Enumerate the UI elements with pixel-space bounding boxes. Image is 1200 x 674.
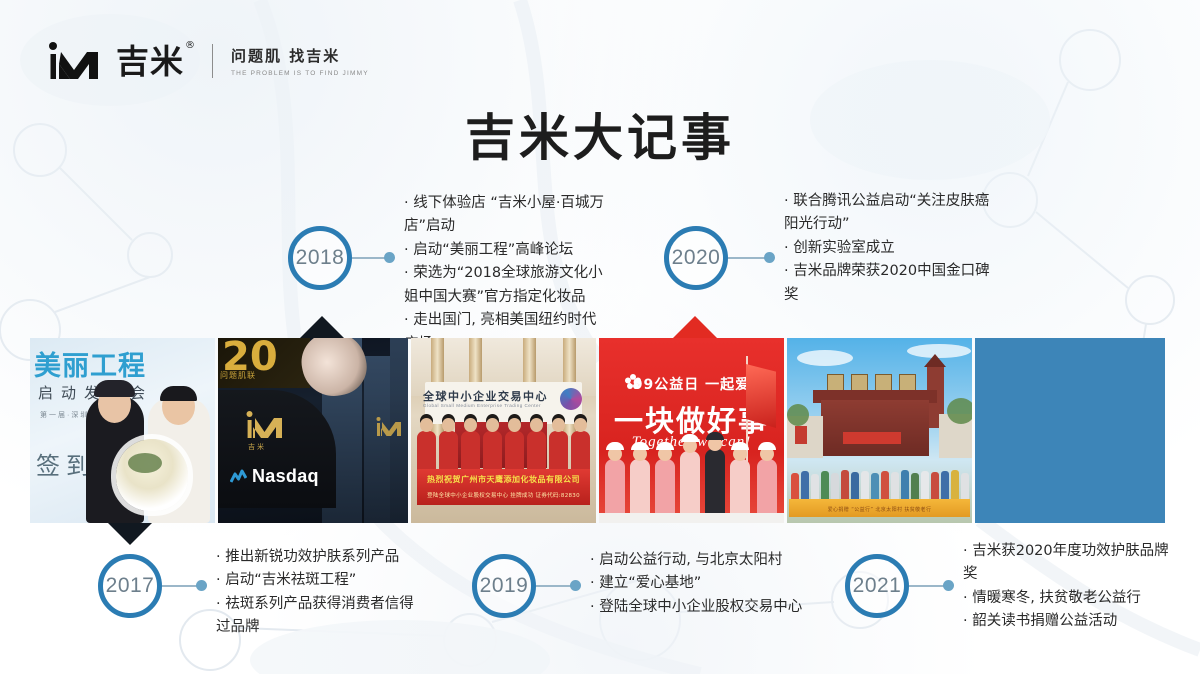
tagline-chinese: 问题肌 找吉米 bbox=[231, 45, 369, 66]
building bbox=[364, 356, 390, 523]
nasdaq-mark-icon bbox=[230, 469, 247, 484]
bullet-item: 线下体验店 “吉米小屋·百城万店”启动 bbox=[404, 192, 610, 239]
gate-red-banner bbox=[843, 432, 901, 444]
year-circle-2019[interactable]: 2019 bbox=[472, 554, 536, 618]
event-bullets-2020: 联合腾讯公益启动“关注皮肤癌阳光行动” 创新实验室成立 吉米品牌荣获2020中国… bbox=[784, 190, 994, 307]
pointer-down-2017 bbox=[108, 523, 152, 545]
person bbox=[851, 472, 859, 501]
jimmy-m-logo-icon bbox=[376, 416, 402, 437]
person-hair bbox=[160, 386, 197, 401]
person bbox=[871, 473, 879, 501]
photo-trading-center-ceremony[interactable]: 全球中小企业交易中心 Global Small Medium Enterpris… bbox=[411, 338, 596, 523]
connector-dot-2020 bbox=[764, 252, 775, 263]
connector-dot-2019 bbox=[570, 580, 581, 591]
year-label-2017: 2017 bbox=[106, 574, 155, 598]
photo-content: 美丽工程 启动发布会 第一届·深圳 2018年 签到 bbox=[30, 338, 215, 523]
photo-beauty-project-launch[interactable]: 美丽工程 启动发布会 第一届·深圳 2018年 签到 bbox=[30, 338, 215, 523]
page-title: 吉米大记事 bbox=[0, 98, 1200, 170]
cloud bbox=[797, 350, 853, 366]
year-label-2020: 2020 bbox=[672, 246, 721, 270]
charity-banner-text: 爱心捐赠 “公益行” 北京太阳村 扶贫敬老行 bbox=[791, 506, 968, 513]
bullet-item: 联合腾讯公益启动“关注皮肤癌阳光行动” bbox=[784, 190, 994, 237]
pointer-up-2020 bbox=[673, 316, 717, 338]
backdrop-title: 美丽工程 bbox=[34, 344, 146, 383]
photo-99-charity-day[interactable]: 99公益日 一起爱 一块做好事 Together we can! bbox=[599, 338, 784, 523]
bullet-item: 启动“吉米祛斑工程” bbox=[216, 569, 428, 592]
connector-dot-2018 bbox=[384, 252, 395, 263]
person bbox=[791, 473, 799, 501]
volunteer bbox=[705, 449, 725, 523]
person bbox=[951, 470, 959, 501]
tagline-group: 问题肌 找吉米 THE PROBLEM IS TO FIND JIMMY bbox=[231, 45, 369, 77]
brand-logo: 吉米 ® 问题肌 找吉米 THE PROBLEM IS TO FIND JIMM… bbox=[48, 40, 369, 82]
bullet-item: 情暖寒冬, 扶贫敬老公益行 bbox=[963, 587, 1169, 610]
person bbox=[841, 470, 849, 501]
connector-2017 bbox=[162, 585, 200, 587]
tagline-english: THE PROBLEM IS TO FIND JIMMY bbox=[231, 70, 369, 77]
person bbox=[811, 474, 819, 501]
photo-content: 全球中小企业交易中心 Global Small Medium Enterpris… bbox=[411, 338, 596, 523]
event-bullets-2017: 推出新锐功效护肤系列产品 启动“吉米祛斑工程” 祛斑系列产品获得消费者信得过品牌 bbox=[216, 546, 428, 640]
person bbox=[801, 471, 809, 501]
bullet-item: 推出新锐功效护肤系列产品 bbox=[216, 546, 428, 569]
bullet-item: 创新实验室成立 bbox=[784, 237, 994, 260]
venue-sign-english: Global Small Medium Enterprise Trading C… bbox=[423, 403, 541, 408]
village-gate bbox=[821, 400, 929, 456]
banner-line-2: 登陆全球中小企业股权交易中心 挂牌成功 证券代码:82830 bbox=[421, 491, 586, 499]
photo-strip: 美丽工程 启动发布会 第一届·深圳 2018年 签到 2 bbox=[30, 338, 1175, 523]
person bbox=[831, 473, 839, 501]
registered-mark: ® bbox=[185, 41, 196, 51]
photo-nasdaq-times-square[interactable]: 20 问题肌联 吉米 bbox=[218, 338, 408, 523]
person bbox=[891, 472, 899, 501]
bullet-item: 吉米获2020年度功效护肤品牌奖 bbox=[963, 540, 1169, 587]
venue-sign-logo-icon bbox=[560, 388, 582, 410]
bullet-item: 启动“美丽工程”高峰论坛 bbox=[404, 239, 610, 262]
connector-dot-2017 bbox=[196, 580, 207, 591]
crowd-group bbox=[787, 451, 972, 501]
year-label-2021: 2021 bbox=[853, 574, 902, 598]
person bbox=[901, 470, 909, 501]
photo-content: 99公益日 一起爱 一块做好事 Together we can! bbox=[599, 338, 784, 523]
connector-2020 bbox=[728, 257, 768, 259]
jimmy-m-logo-icon bbox=[48, 40, 102, 82]
photo-placeholder-blue[interactable] bbox=[975, 338, 1165, 523]
year-label-2019: 2019 bbox=[480, 574, 529, 598]
bullet-item: 祛斑系列产品获得消费者信得过品牌 bbox=[216, 593, 428, 640]
person bbox=[931, 472, 939, 501]
logo-divider bbox=[212, 44, 213, 78]
person bbox=[941, 471, 949, 501]
bouquet bbox=[116, 439, 188, 511]
bullet-item: 韶关读书捐赠公益活动 bbox=[963, 610, 1169, 633]
banner-line-1: 热烈祝贺广州市天鹰添加化妆品有限公司 bbox=[421, 474, 586, 485]
photo-content: 20 问题肌联 吉米 bbox=[218, 338, 408, 523]
person bbox=[881, 471, 889, 501]
stage-base bbox=[599, 513, 784, 523]
event-bullets-2021: 吉米获2020年度功效护肤品牌奖 情暖寒冬, 扶贫敬老公益行 韶关读书捐赠公益活… bbox=[963, 540, 1169, 634]
photo-village-group[interactable]: 爱心捐赠 “公益行” 北京太阳村 扶贫敬老行 bbox=[787, 338, 972, 523]
bullet-item: 登陆全球中小企业股权交易中心 bbox=[590, 596, 820, 619]
brand-name: 吉米 ® bbox=[116, 45, 184, 78]
person bbox=[961, 473, 969, 501]
jimmy-m-logo-icon bbox=[246, 410, 284, 440]
nasdaq-label: Nasdaq bbox=[252, 466, 319, 487]
bullet-item: 吉米品牌荣获2020中国金口碑奖 bbox=[784, 260, 994, 307]
billboard-brand-sub: 吉米 bbox=[248, 442, 266, 452]
pointer-up-2018 bbox=[300, 316, 344, 338]
year-circle-2018[interactable]: 2018 bbox=[288, 226, 352, 290]
connector-dot-2021 bbox=[943, 580, 954, 591]
tree bbox=[947, 398, 972, 424]
gate-plaque bbox=[795, 426, 807, 444]
person bbox=[911, 473, 919, 501]
year-circle-2020[interactable]: 2020 bbox=[664, 226, 728, 290]
venue-sign-chinese: 全球中小企业交易中心 bbox=[423, 388, 548, 404]
person bbox=[821, 471, 829, 501]
red-flag bbox=[746, 364, 776, 428]
slide-canvas: 吉米 ® 问题肌 找吉米 THE PROBLEM IS TO FIND JIMM… bbox=[0, 0, 1200, 674]
bullet-item: 荣选为“2018全球旅游文化小姐中国大赛”官方指定化妆品 bbox=[404, 262, 610, 309]
person bbox=[921, 471, 929, 501]
connector-2018 bbox=[352, 257, 388, 259]
nasdaq-tower-panel bbox=[218, 390, 336, 508]
billboard-screen: 20 问题肌联 bbox=[218, 338, 310, 388]
billboard-subtext: 问题肌联 bbox=[220, 370, 256, 381]
event-bullets-2018: 线下体验店 “吉米小屋·百城万店”启动 启动“美丽工程”高峰论坛 荣选为“201… bbox=[404, 192, 610, 356]
bouquet-leaves bbox=[128, 453, 162, 473]
connector-2019 bbox=[536, 585, 574, 587]
photo-content: 爱心捐赠 “公益行” 北京太阳村 扶贫敬老行 bbox=[787, 338, 972, 523]
bullet-item: 启动公益行动, 与北京太阳村 bbox=[590, 549, 820, 572]
nasdaq-logo: Nasdaq bbox=[230, 466, 319, 487]
year-circle-2021[interactable]: 2021 bbox=[845, 554, 909, 618]
year-label-2018: 2018 bbox=[296, 246, 345, 270]
bullet-item: 建立“爱心基地” bbox=[590, 572, 820, 595]
person-hat bbox=[94, 380, 135, 397]
connector-2021 bbox=[909, 585, 947, 587]
photo-content bbox=[975, 338, 1165, 523]
brand-name-text: 吉米 bbox=[116, 42, 184, 81]
tree bbox=[787, 404, 809, 426]
event-bullets-2019: 启动公益行动, 与北京太阳村 建立“爱心基地” 登陆全球中小企业股权交易中心 bbox=[590, 549, 820, 619]
year-circle-2017[interactable]: 2017 bbox=[98, 554, 162, 618]
person bbox=[861, 471, 869, 501]
